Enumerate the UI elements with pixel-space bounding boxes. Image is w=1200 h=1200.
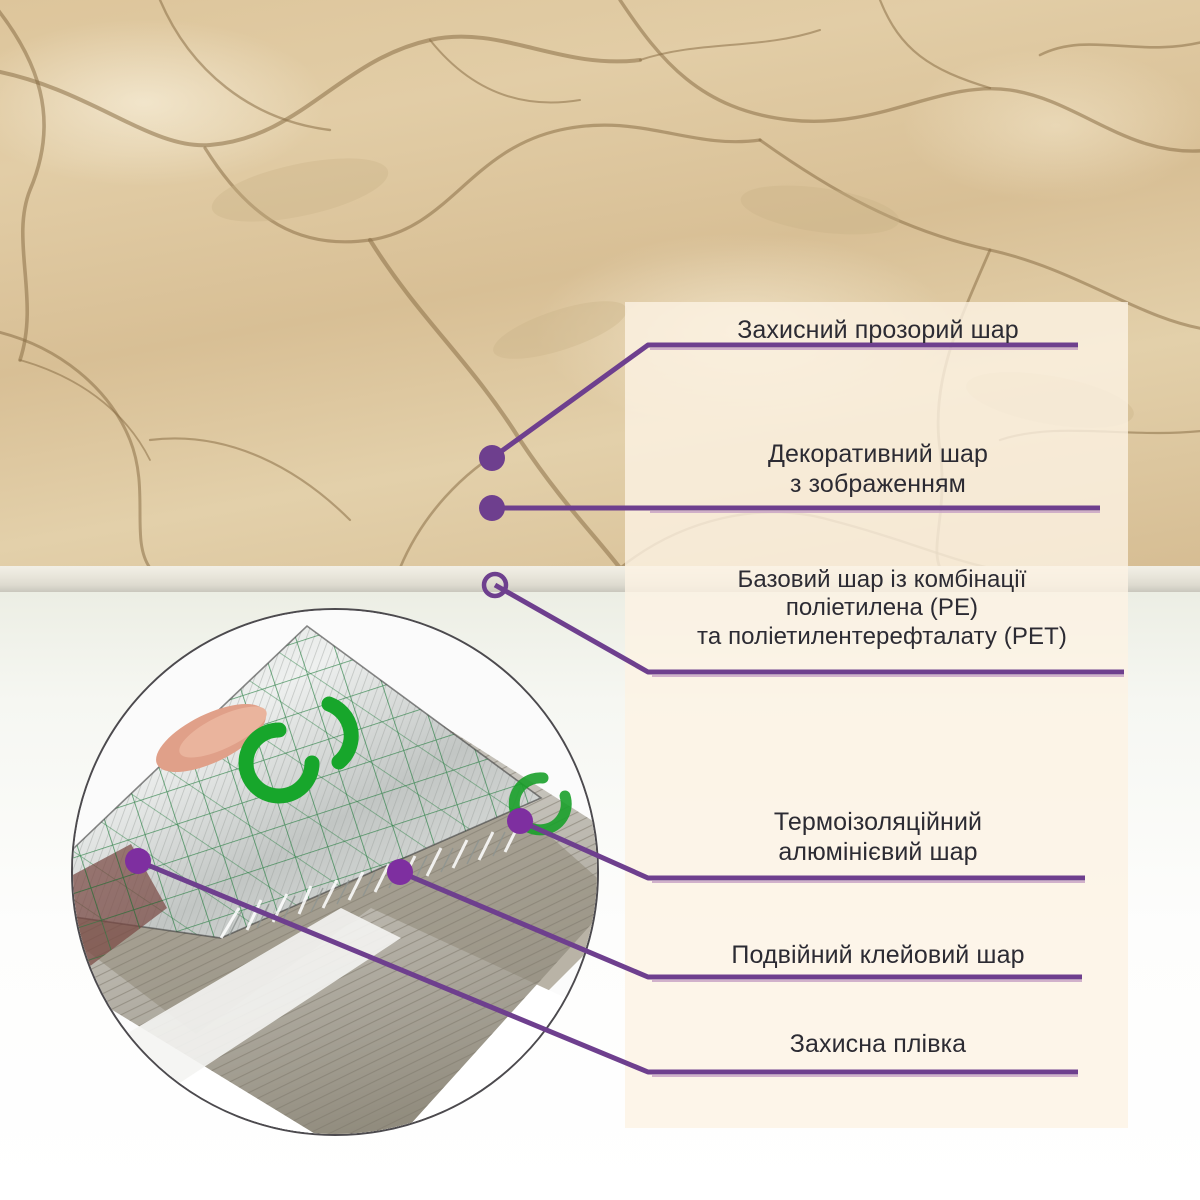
infographic-canvas: Захисний прозорий шар Декоративний шар з… bbox=[0, 0, 1200, 1200]
label-protective-transparent-layer: Захисний прозорий шар bbox=[648, 316, 1108, 346]
label-double-adhesive-layer: Подвійний клейовий шар bbox=[648, 941, 1108, 971]
magnified-panel-photo bbox=[71, 608, 599, 1136]
legend-panel bbox=[625, 302, 1128, 1128]
label-base-pe-pet-layer: Базовий шар із комбінації поліетилена (P… bbox=[636, 566, 1128, 651]
label-decorative-image-layer: Декоративний шар з зображенням bbox=[648, 440, 1108, 499]
label-protective-film: Захисна плівка bbox=[648, 1030, 1108, 1060]
label-thermal-aluminium-layer: Термоізоляційний алюмінієвий шар bbox=[648, 808, 1108, 867]
magnifier-circle-icon bbox=[71, 608, 599, 1136]
